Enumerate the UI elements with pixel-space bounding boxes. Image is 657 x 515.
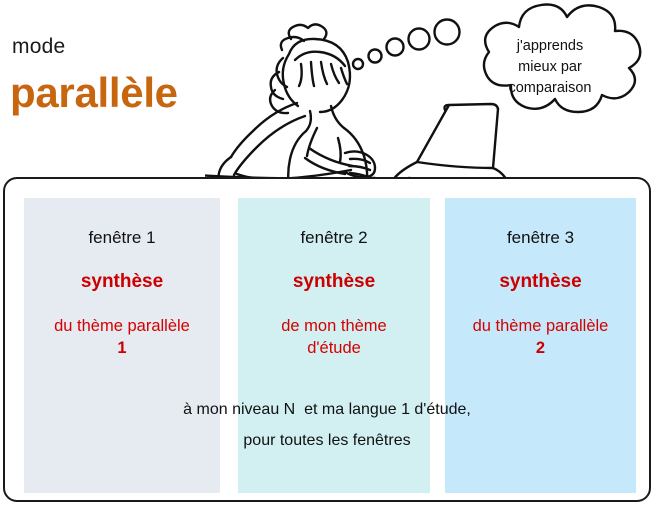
window-column-1: fenêtre 1 synthèse du thème parallèle 1	[24, 198, 220, 493]
neck	[306, 111, 311, 131]
window-1-synthesis-label: synthèse	[24, 272, 220, 291]
arm-typing	[305, 128, 353, 174]
window-column-3: fenêtre 3 synthèse du thème parallèle 2	[445, 198, 636, 493]
window-2-desc-line1: de mon thème	[281, 317, 386, 335]
window-2-title: fenêtre 2	[238, 229, 430, 246]
hair-bun-icon	[281, 24, 327, 50]
head-outline	[289, 39, 350, 112]
mode-label: mode	[12, 36, 65, 57]
window-2-desc-line2: d'étude	[307, 339, 361, 357]
hair-fringe	[295, 52, 345, 66]
window-3-synthesis-label: synthèse	[445, 272, 636, 291]
window-2-description: de mon thème d'étude	[238, 315, 430, 360]
window-column-2: fenêtre 2 synthèse de mon thème d'étude	[238, 198, 430, 493]
laptop	[392, 104, 508, 178]
window-3-desc-line1: du thème parallèle	[473, 317, 609, 335]
window-1-desc-line1: du thème parallèle	[54, 317, 190, 335]
window-2-synthesis-label: synthèse	[238, 272, 430, 291]
window-1-desc-line2: 1	[117, 339, 126, 357]
windows-panel: fenêtre 1 synthèse du thème parallèle 1 …	[3, 177, 651, 502]
window-1-title: fenêtre 1	[24, 229, 220, 246]
window-3-description: du thème parallèle 2	[445, 315, 636, 360]
thought-bubble-text: j'apprendsmieux parcomparaison	[471, 36, 629, 99]
torso	[288, 131, 306, 178]
window-3-title: fenêtre 3	[445, 229, 636, 246]
window-1-description: du thème parallèle 1	[24, 315, 220, 360]
braid	[270, 58, 288, 113]
thought-dots-icon	[353, 20, 460, 70]
window-3-desc-line2: 2	[536, 339, 545, 357]
mode-name: parallèle	[10, 72, 178, 114]
